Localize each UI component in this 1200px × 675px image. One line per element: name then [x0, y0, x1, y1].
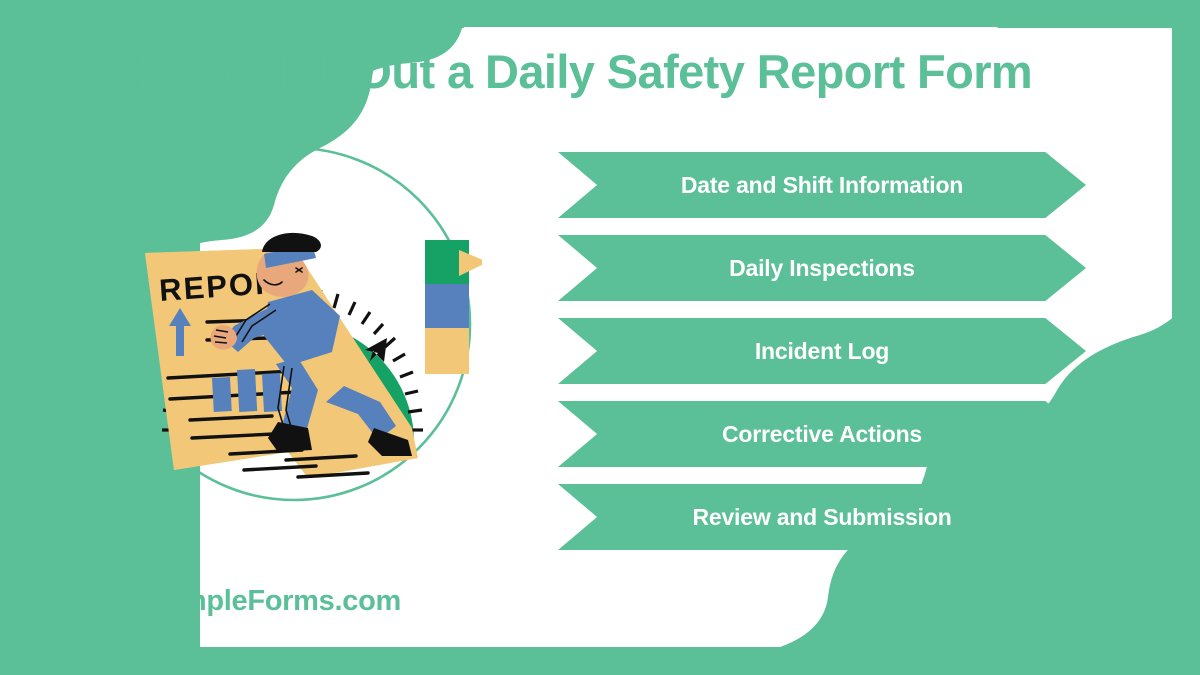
step-banner-3[interactable]: Incident Log [558, 318, 1086, 384]
step-banner-2[interactable]: Daily Inspections [558, 235, 1086, 301]
step-banner-1[interactable]: Date and Shift Information [558, 152, 1086, 218]
infographic-poster: How to Fill Out a Daily Safety Report Fo… [0, 0, 1200, 675]
step-label: Daily Inspections [675, 257, 969, 280]
step-label: Date and Shift Information [627, 174, 1017, 197]
flag-marker [425, 240, 482, 374]
frame-edge-left [0, 0, 27, 675]
frame-edge-bottom [0, 648, 1200, 675]
page-title: How to Fill Out a Daily Safety Report Fo… [112, 44, 1142, 99]
illustration-scene: REPORT [145, 233, 482, 478]
frame-edge-right [1173, 0, 1200, 675]
step-label: Review and Submission [638, 506, 1005, 529]
brand-wordmark[interactable]: SampleForms.com [146, 585, 401, 618]
step-label: Incident Log [701, 340, 943, 363]
frame-edge-top [0, 0, 1200, 27]
step-banner-4[interactable]: Corrective Actions [558, 401, 1086, 467]
step-label: Corrective Actions [668, 423, 976, 446]
hero-illustration: Person in blue uniform running across a … [112, 140, 482, 512]
steps-list: Date and Shift Information Daily Inspect… [558, 152, 1086, 550]
step-banner-5[interactable]: Review and Submission [558, 484, 1086, 550]
